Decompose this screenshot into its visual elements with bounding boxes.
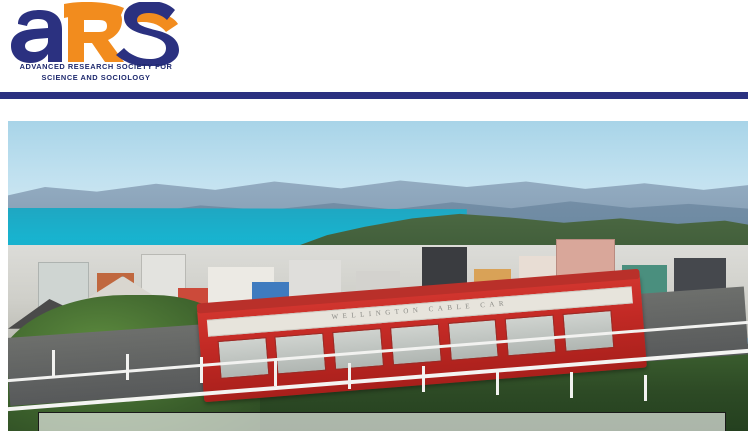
logo-tagline-line-1: ADVANCED RESEARCH SOCIETY FOR: [6, 62, 186, 73]
site-header: ADVANCED RESEARCH SOCIETY FOR SCIENCE AN…: [0, 0, 748, 92]
brand-logo-block[interactable]: ADVANCED RESEARCH SOCIETY FOR SCIENCE AN…: [6, 2, 196, 90]
page-root: ADVANCED RESEARCH SOCIETY FOR SCIENCE AN…: [0, 0, 748, 431]
logo-tagline: ADVANCED RESEARCH SOCIETY FOR SCIENCE AN…: [6, 62, 186, 83]
announcement-banner: International conference on Robotics and…: [38, 412, 726, 431]
photo-canvas: WELLINGTON CABLE CAR: [8, 121, 748, 431]
logo-tagline-line-2: SCIENCE AND SOCIOLOGY: [6, 73, 186, 84]
header-divider-bar: [0, 92, 748, 99]
ars-logo-icon: [6, 2, 181, 66]
announcement-text: International conference on Robotics and…: [61, 427, 703, 431]
hero-photo: WELLINGTON CABLE CAR: [8, 121, 748, 431]
